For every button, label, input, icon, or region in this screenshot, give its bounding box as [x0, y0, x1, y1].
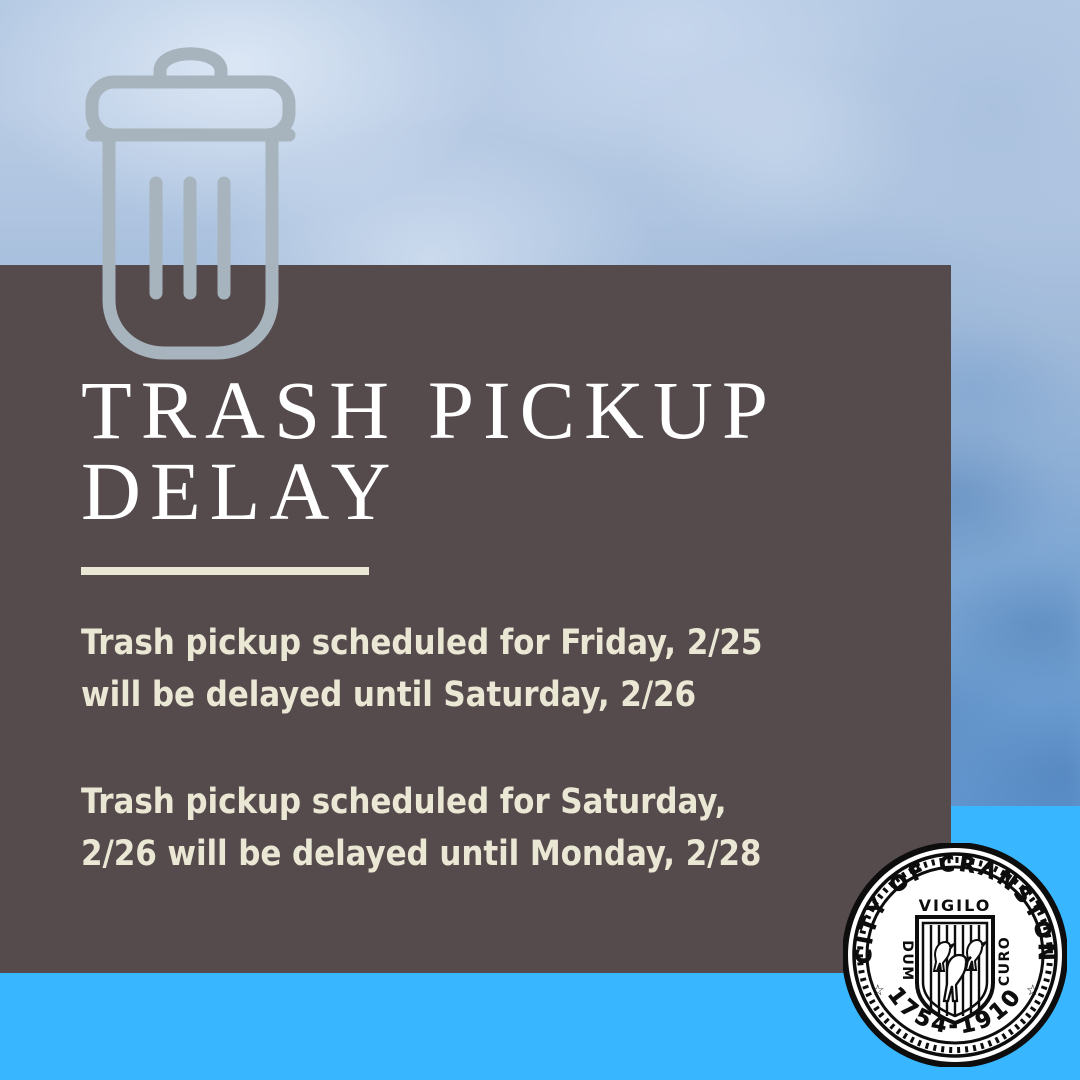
page-title: TRASH PICKUP DELAY	[81, 370, 881, 533]
seal-motto-top: VIGILO	[919, 896, 992, 915]
announcement-graphic: TRASH PICKUP DELAY Trash pickup schedule…	[0, 0, 1080, 1080]
paragraph-saturday: Trash pickup scheduled for Saturday, 2/2…	[81, 776, 881, 881]
paragraph-friday: Trash pickup scheduled for Friday, 2/25 …	[81, 617, 881, 722]
announcement-content: TRASH PICKUP DELAY Trash pickup schedule…	[81, 370, 881, 880]
city-of-cranston-seal: CITY OF CRANSTON 1754-1910 ☆ ☆ VIGILO DU…	[843, 843, 1067, 1067]
seal-star-left: ☆	[871, 981, 884, 999]
seal-shield	[917, 917, 993, 1023]
seal-motto-left: DUM	[899, 940, 915, 981]
seal-star-right: ☆	[1026, 981, 1039, 999]
trash-can-icon	[78, 28, 303, 373]
seal-motto-right: CURO	[997, 936, 1013, 986]
title-divider	[81, 567, 369, 575]
body-text-group: Trash pickup scheduled for Friday, 2/25 …	[81, 617, 881, 881]
